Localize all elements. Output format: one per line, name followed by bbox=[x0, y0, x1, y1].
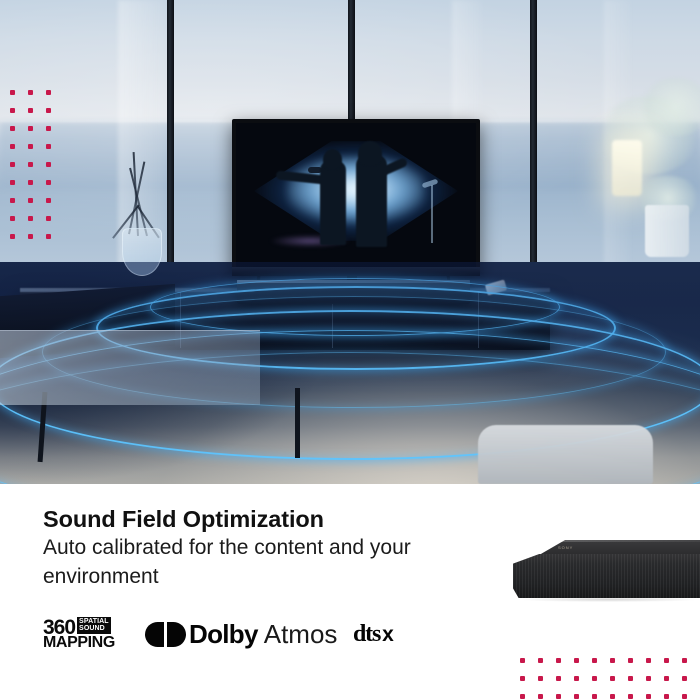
logo-360-mapping: MAPPING bbox=[43, 635, 115, 651]
decorative-dot bbox=[28, 216, 33, 221]
decorative-dot bbox=[682, 694, 687, 699]
decorative-dot bbox=[610, 694, 615, 699]
decorative-dot bbox=[664, 694, 669, 699]
decorative-dot bbox=[46, 216, 51, 221]
table-leg bbox=[295, 388, 300, 458]
decorative-dot bbox=[10, 90, 15, 95]
mic-stand bbox=[431, 185, 433, 243]
decorative-dot bbox=[574, 658, 579, 663]
decorative-dot bbox=[46, 234, 51, 239]
decorative-dot-grid-left bbox=[10, 90, 64, 252]
decorative-dot bbox=[46, 126, 51, 131]
decorative-dot bbox=[610, 676, 615, 681]
logo-360-stack: SPATIAL SOUND bbox=[77, 617, 111, 634]
soundbar-product-image: SONY bbox=[513, 540, 700, 604]
logo-dts-word: dts bbox=[353, 621, 380, 648]
decorative-dot bbox=[10, 198, 15, 203]
tv-bottom-bezel bbox=[232, 267, 480, 276]
logo-atmos-word: Atmos bbox=[264, 619, 338, 650]
decorative-dot bbox=[628, 676, 633, 681]
decorative-dot bbox=[10, 126, 15, 131]
logo-dolby-atmos: Dolby Atmos bbox=[145, 619, 337, 650]
soundbar-top-highlight bbox=[529, 540, 700, 542]
decorative-dot bbox=[610, 658, 615, 663]
decorative-dot bbox=[28, 162, 33, 167]
decorative-dot bbox=[628, 658, 633, 663]
decorative-dot bbox=[520, 658, 525, 663]
soundbar-brand-mark: SONY bbox=[558, 545, 573, 550]
logo-dts-x: dts x bbox=[353, 621, 394, 648]
decorative-dot bbox=[592, 694, 597, 699]
decorative-dot bbox=[682, 676, 687, 681]
decorative-dot bbox=[520, 694, 525, 699]
decorative-dot bbox=[646, 694, 651, 699]
soundbar-top-face bbox=[527, 540, 700, 556]
decorative-dot bbox=[664, 658, 669, 663]
double-d-icon bbox=[145, 622, 186, 647]
decorative-dot bbox=[46, 162, 51, 167]
decorative-dot bbox=[628, 694, 633, 699]
hero-photo bbox=[0, 0, 700, 484]
decorative-dot bbox=[646, 676, 651, 681]
decorative-dot bbox=[664, 676, 669, 681]
decorative-dot bbox=[46, 90, 51, 95]
window-mullion bbox=[530, 0, 537, 268]
decorative-dot bbox=[28, 90, 33, 95]
decorative-dot bbox=[28, 180, 33, 185]
decorative-dot bbox=[46, 108, 51, 113]
decorative-dot bbox=[46, 198, 51, 203]
promo-card: Sound Field Optimization Auto calibrated… bbox=[0, 0, 700, 700]
decorative-dot bbox=[28, 198, 33, 203]
performer-head bbox=[323, 149, 342, 170]
sofa bbox=[478, 425, 653, 484]
page-title: Sound Field Optimization bbox=[43, 506, 324, 533]
soundbar-grille-mesh bbox=[513, 554, 700, 598]
subtitle-text: Auto calibrated for the content and your… bbox=[43, 534, 443, 592]
logo-360-spatial-sound-mapping: 360 SPATIAL SOUND MAPPING bbox=[43, 617, 123, 649]
decorative-dot bbox=[520, 676, 525, 681]
decorative-dot bbox=[10, 216, 15, 221]
decorative-dot bbox=[574, 676, 579, 681]
tv-screen bbox=[236, 123, 476, 268]
plant-pot bbox=[645, 205, 689, 257]
decorative-dot bbox=[646, 658, 651, 663]
decorative-dot bbox=[10, 162, 15, 167]
decorative-dot-grid-bottom-right bbox=[520, 658, 700, 700]
decorative-dot bbox=[556, 676, 561, 681]
performer-silhouette bbox=[320, 161, 346, 245]
table-lamp bbox=[612, 140, 642, 196]
decorative-dot bbox=[10, 108, 15, 113]
decorative-dot bbox=[592, 676, 597, 681]
decorative-dot bbox=[682, 658, 687, 663]
decorative-dot bbox=[592, 658, 597, 663]
logo-dts-suffix: x bbox=[382, 623, 394, 647]
decorative-dot bbox=[556, 694, 561, 699]
decorative-dot bbox=[538, 694, 543, 699]
decorative-dot bbox=[28, 234, 33, 239]
window-mullion bbox=[167, 0, 174, 268]
decorative-dot bbox=[538, 676, 543, 681]
decorative-dot bbox=[574, 694, 579, 699]
logo-360-spatial: SPATIAL bbox=[79, 618, 109, 625]
decorative-dot bbox=[28, 144, 33, 149]
decorative-dot bbox=[46, 180, 51, 185]
glass-vase bbox=[122, 228, 162, 276]
decorative-dot bbox=[46, 144, 51, 149]
decorative-dot bbox=[556, 658, 561, 663]
decorative-dot bbox=[538, 658, 543, 663]
logo-360-sound: SOUND bbox=[79, 625, 109, 632]
decorative-dot bbox=[28, 126, 33, 131]
glass-coffee-table bbox=[0, 330, 260, 405]
decorative-dot bbox=[10, 180, 15, 185]
decorative-dot bbox=[10, 144, 15, 149]
decorative-dot bbox=[10, 234, 15, 239]
decorative-dot bbox=[28, 108, 33, 113]
performer-head bbox=[358, 141, 382, 166]
logo-dolby-word: Dolby bbox=[189, 619, 258, 650]
